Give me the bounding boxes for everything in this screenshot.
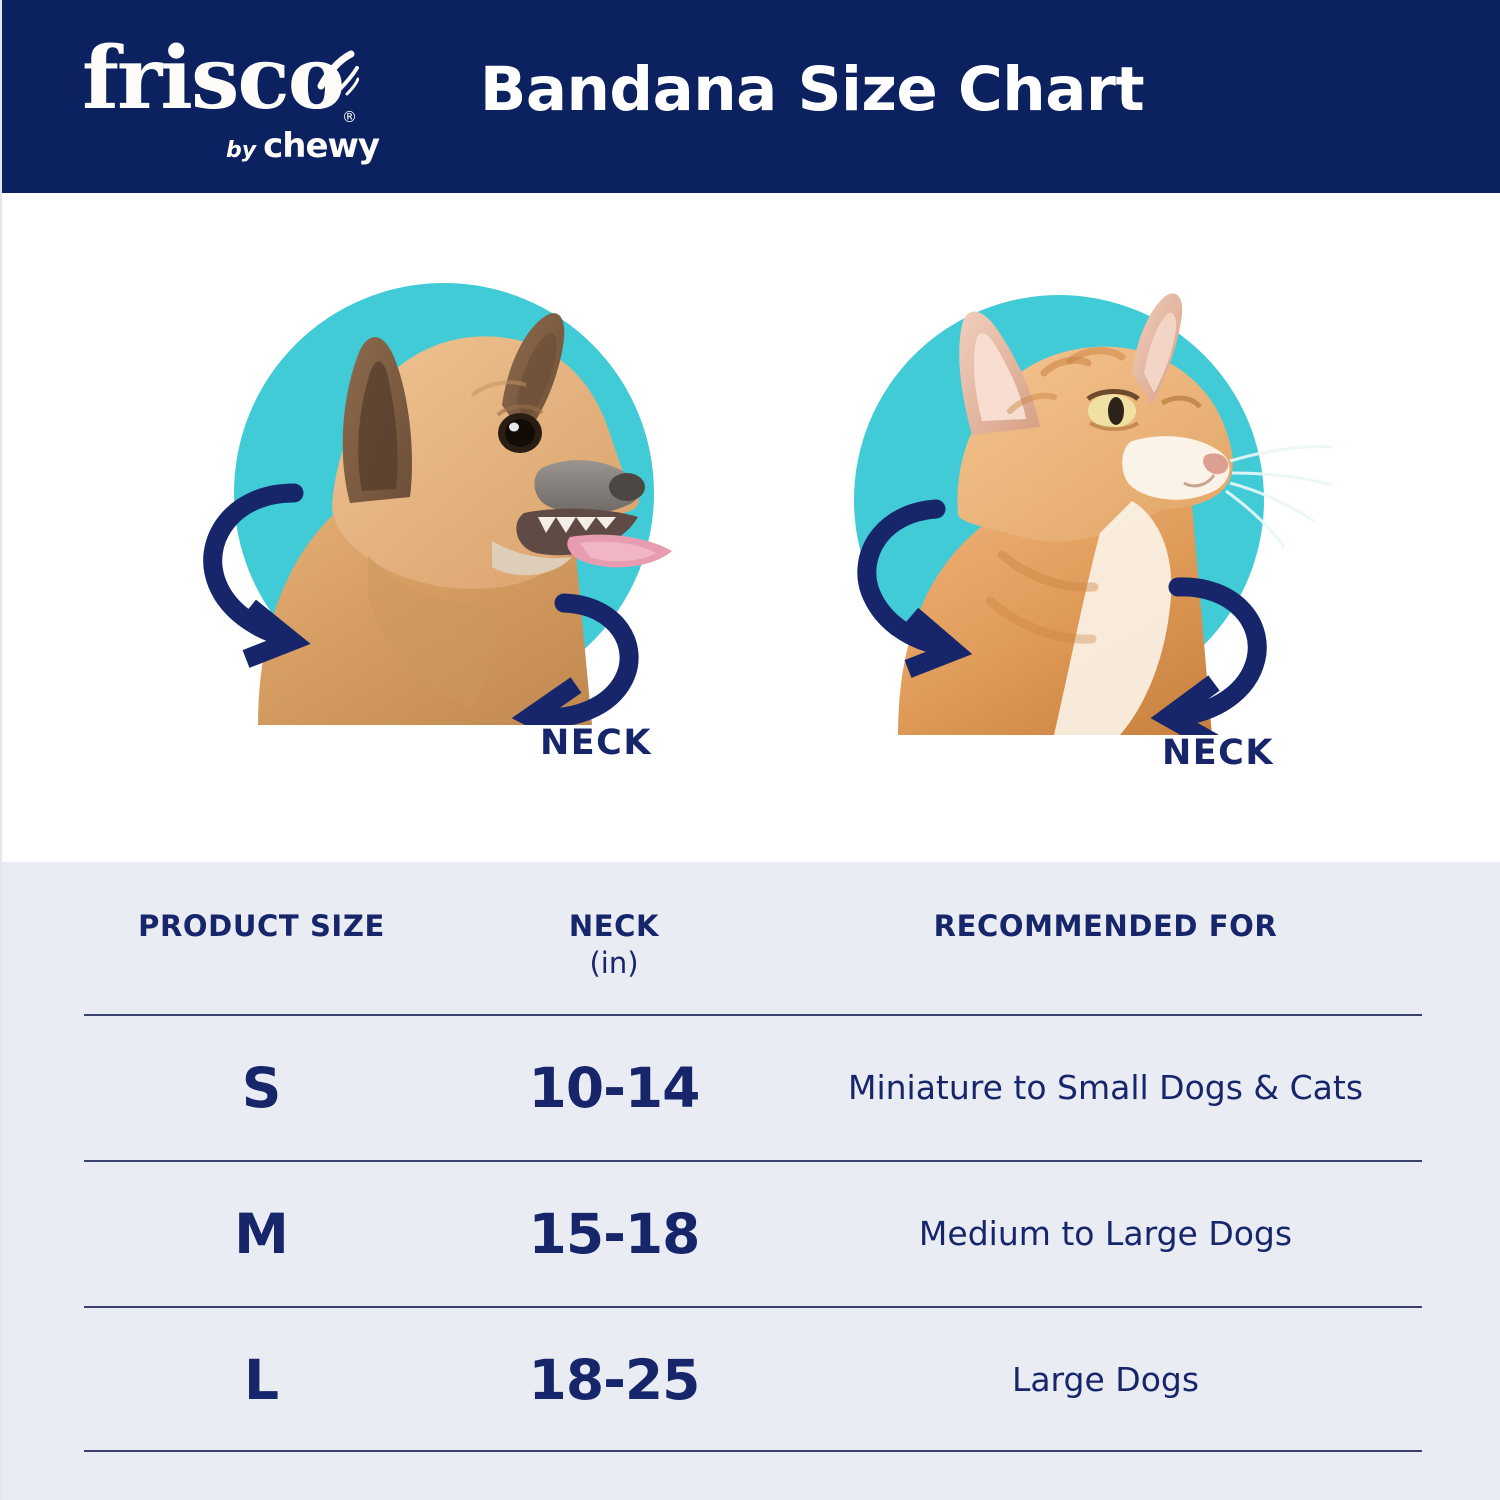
cell-neck: 18-25 <box>439 1307 789 1452</box>
cell-size: L <box>84 1307 439 1452</box>
cell-size: S <box>84 1015 439 1161</box>
cat-stage <box>832 265 1352 735</box>
cell-neck: 10-14 <box>439 1015 789 1161</box>
table-bottom-divider <box>84 1450 1422 1452</box>
cell-size: M <box>84 1161 439 1307</box>
cell-recommended: Medium to Large Dogs <box>789 1161 1422 1307</box>
dog-measurement-figure: NECK <box>172 255 692 795</box>
cell-recommended: Miniature to Small Dogs & Cats <box>789 1015 1422 1161</box>
cat-neck-measure-arrows-icon <box>832 265 1352 735</box>
table-header-row: PRODUCT SIZE NECK (in) RECOMMENDED FOR <box>84 862 1422 1015</box>
size-chart-page: frisco ® by chewy Bandana Size Chart <box>0 0 1500 1500</box>
illustration-band: NECK <box>2 193 1500 862</box>
page-title: Bandana Size Chart <box>2 54 1500 125</box>
size-table: PRODUCT SIZE NECK (in) RECOMMENDED FOR S… <box>84 862 1422 1452</box>
brand-parent-label: chewy <box>263 126 379 166</box>
size-table-section: PRODUCT SIZE NECK (in) RECOMMENDED FOR S… <box>2 862 1500 1500</box>
table-row: M 15-18 Medium to Large Dogs <box>84 1161 1422 1307</box>
column-header-recommended-for: RECOMMENDED FOR <box>789 862 1422 1015</box>
size-table-body: S 10-14 Miniature to Small Dogs & Cats M… <box>84 1015 1422 1452</box>
size-table-header: PRODUCT SIZE NECK (in) RECOMMENDED FOR <box>84 862 1422 1015</box>
column-header-neck: NECK (in) <box>439 862 789 1015</box>
dog-neck-label: NECK <box>172 723 856 763</box>
cat-measurement-figure: NECK <box>832 265 1352 805</box>
dog-stage <box>172 255 692 725</box>
brand-by-label: by <box>226 138 256 163</box>
table-row: S 10-14 Miniature to Small Dogs & Cats <box>84 1015 1422 1161</box>
brand-subline: by chewy <box>226 126 379 166</box>
column-header-neck-unit: (in) <box>439 945 789 982</box>
column-header-neck-main: NECK <box>569 909 659 943</box>
cat-neck-label: NECK <box>832 733 1478 773</box>
dog-neck-measure-arrows-icon <box>172 255 692 725</box>
column-header-product-size: PRODUCT SIZE <box>84 862 439 1015</box>
cell-neck: 15-18 <box>439 1161 789 1307</box>
table-row: L 18-25 Large Dogs <box>84 1307 1422 1452</box>
header-bar: frisco ® by chewy Bandana Size Chart <box>2 0 1500 193</box>
cell-recommended: Large Dogs <box>789 1307 1422 1452</box>
